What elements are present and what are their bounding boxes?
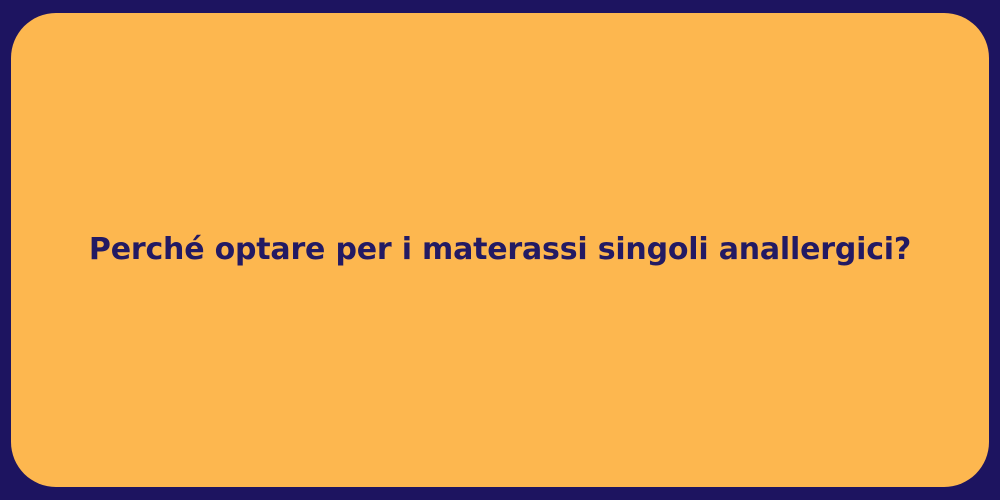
headline-card: Perché optare per i materassi singoli an…	[11, 13, 989, 487]
page-title: Perché optare per i materassi singoli an…	[49, 231, 951, 269]
page-frame: Perché optare per i materassi singoli an…	[0, 0, 1000, 500]
